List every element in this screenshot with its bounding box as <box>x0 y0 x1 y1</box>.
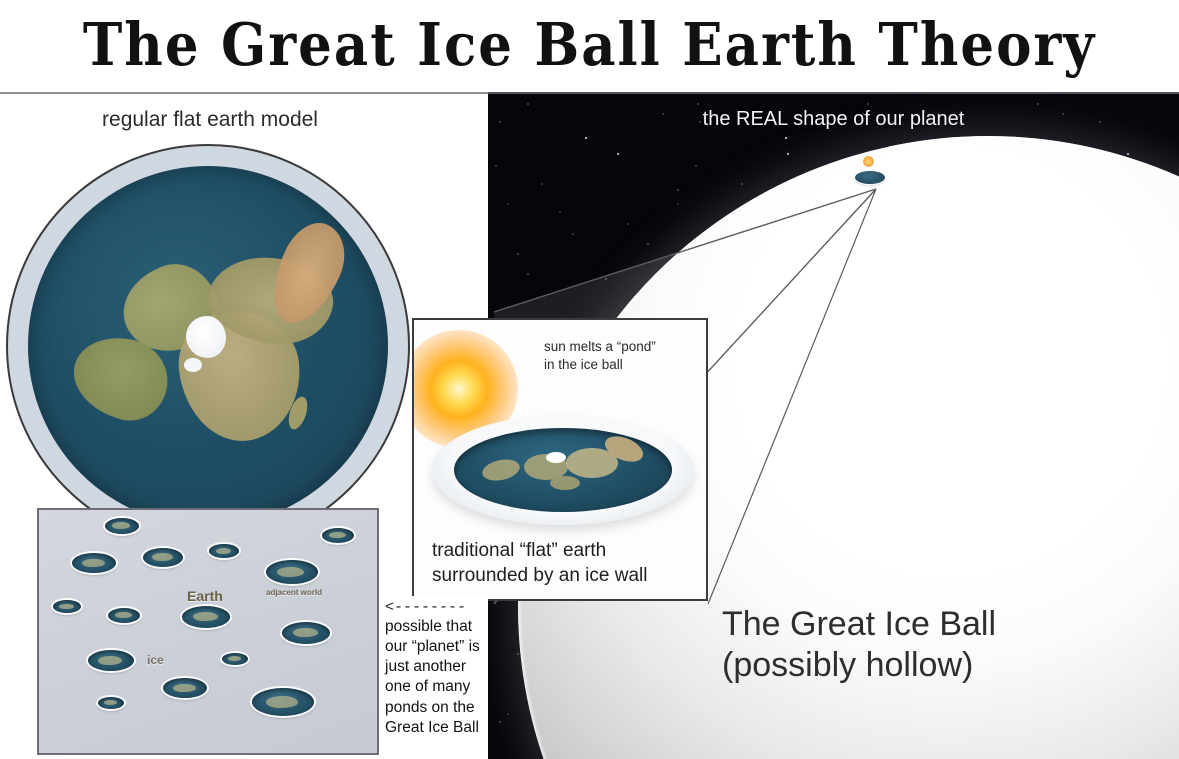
inset-flat-earth-caption: traditional “flat” earth surrounded by a… <box>432 538 694 588</box>
pond <box>143 548 183 567</box>
pond <box>72 553 116 573</box>
pond-label-adjacent-world: adjacent world <box>266 588 322 597</box>
meme-image: The Great Ice Ball Earth Theory regular … <box>0 0 1179 759</box>
pond <box>108 608 140 623</box>
inset-callout-box: sun melts a “pond” in the ice ball tradi… <box>412 318 708 601</box>
inset-polar-ice-cap <box>546 452 566 463</box>
ponds-note-text: possible that our “planet” is just anoth… <box>385 617 485 738</box>
pond <box>98 697 124 709</box>
pond <box>322 528 354 543</box>
polar-ice-cap <box>186 316 226 358</box>
pond <box>222 653 248 665</box>
pond-label-earth: Earth <box>187 588 223 604</box>
flat-earth-ocean <box>28 166 388 526</box>
left-arrow-icon: <-------- <box>385 600 485 615</box>
inset-landmass-5 <box>550 476 580 490</box>
flat-earth-panel-label: regular flat earth model <box>0 108 420 132</box>
pond <box>88 650 134 671</box>
space-panel-label: the REAL shape of our planet <box>488 108 1179 131</box>
pond <box>163 678 207 698</box>
pond <box>252 688 314 716</box>
page-title: The Great Ice Ball Earth Theory <box>83 10 1096 79</box>
inset-flat-earth-ocean <box>454 428 672 512</box>
pond <box>282 622 330 644</box>
inset-landmass-1 <box>480 456 521 483</box>
surface-sun-icon <box>863 156 874 167</box>
flat-earth-diagram <box>6 144 410 548</box>
ponds-note: <-------- possible that our “planet” is … <box>385 600 485 738</box>
inset-sun-caption: sun melts a “pond” in the ice ball <box>544 338 704 374</box>
polar-ice-cap-secondary <box>184 358 202 372</box>
pond <box>105 518 139 534</box>
pond-earth <box>182 606 230 628</box>
ice-ball-caption: The Great Ice Ball (possibly hollow) <box>722 604 996 687</box>
inset-flat-earth-diagram <box>432 415 694 533</box>
many-ponds-panel: Earth ice adjacent world <box>37 508 379 755</box>
surface-pond-marker <box>855 171 885 184</box>
title-bar: The Great Ice Ball Earth Theory <box>0 0 1179 90</box>
pond-label-ice: ice <box>147 653 164 667</box>
pond <box>209 544 239 558</box>
pond-adjacent-world <box>266 560 318 584</box>
pond <box>53 600 81 613</box>
